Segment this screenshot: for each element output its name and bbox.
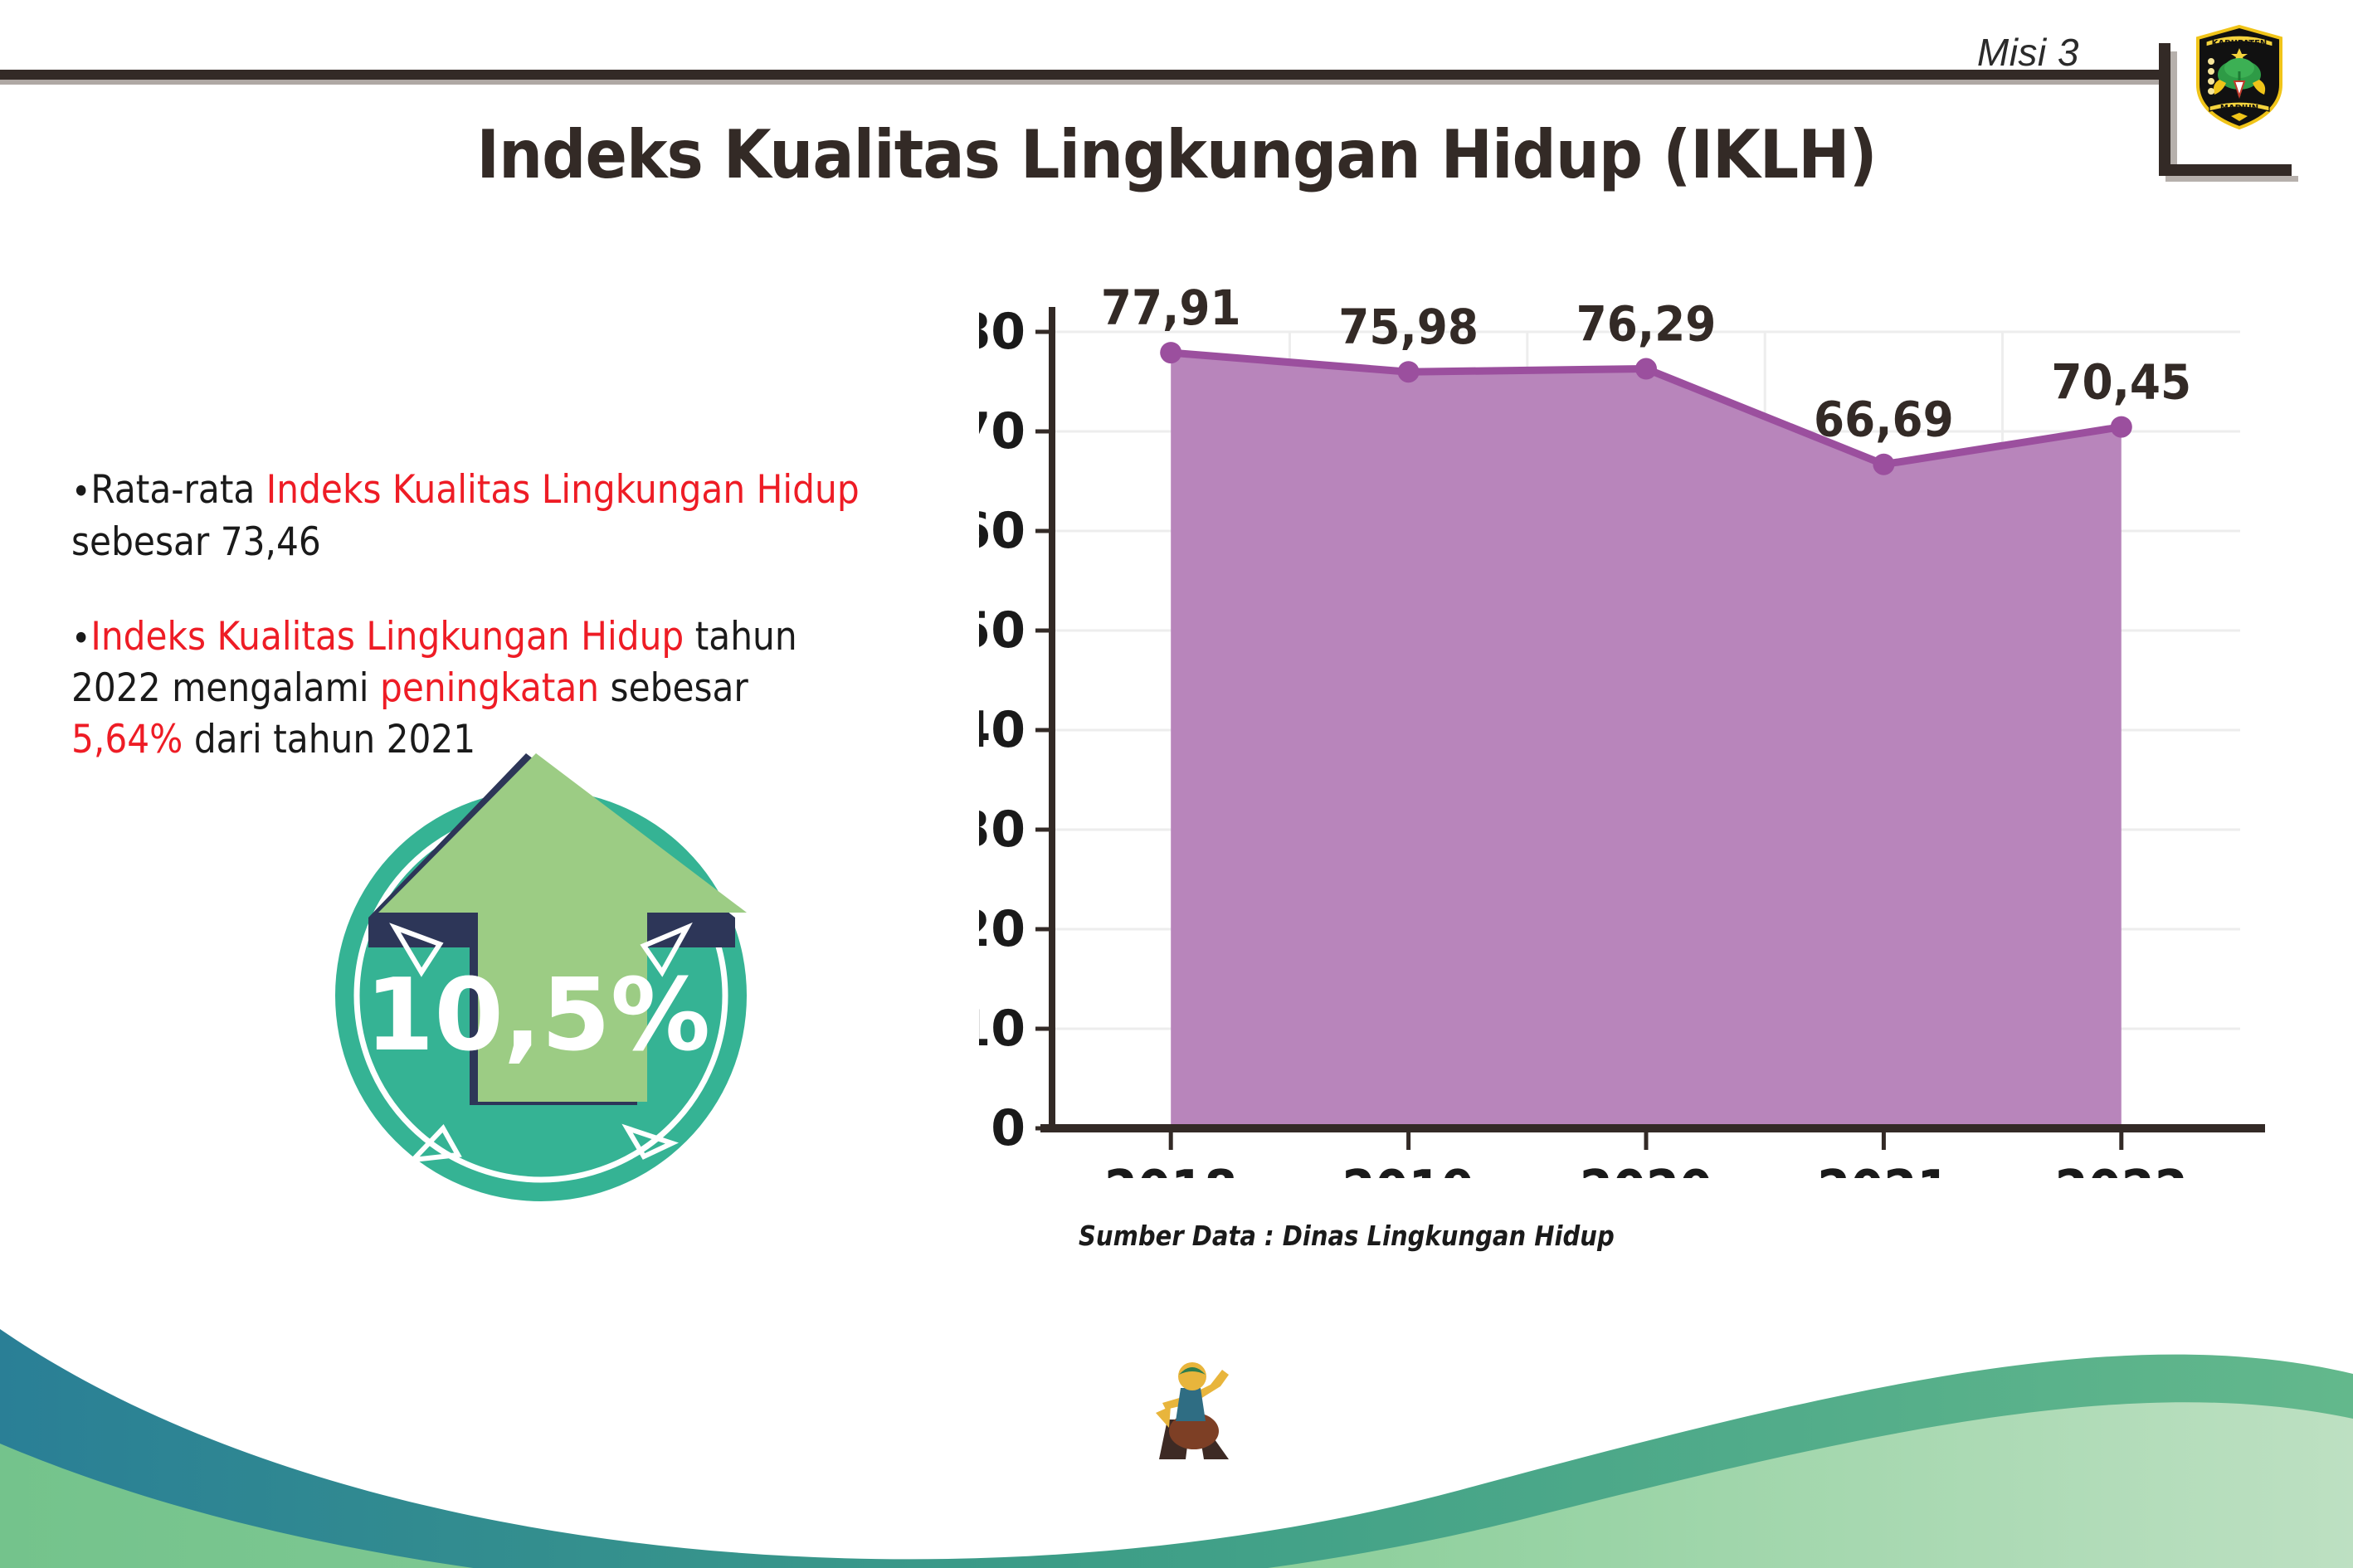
y-axis-tick-label: 20 xyxy=(979,900,1025,958)
data-point-label: 76,29 xyxy=(1576,296,1717,353)
header-rule xyxy=(0,70,2169,80)
y-axis-tick-label: 80 xyxy=(979,303,1025,361)
bullet-text-run: sebesar xyxy=(599,665,748,711)
kabupaten-madiun-emblem-icon: KABUPATEN MADIUN xyxy=(2195,25,2284,129)
bullet-dot: • xyxy=(71,617,90,660)
misi-label: Misi 3 xyxy=(1977,30,2079,75)
bullet-text-run: Indeks Kualitas Lingkungan Hidup xyxy=(266,467,860,513)
data-point-marker[interactable] xyxy=(1635,358,1657,380)
bullet-text-run: 5,64% xyxy=(71,717,183,762)
list-item: •Indeks Kualitas Lingkungan Hidup tahun … xyxy=(71,611,863,767)
bullet-text-run: sebesar 73,46 xyxy=(71,519,321,565)
svg-text:KABUPATEN: KABUPATEN xyxy=(2212,39,2268,48)
list-item: •Rata-rata Indeks Kualitas Lingkungan Hi… xyxy=(71,465,863,568)
data-point-marker[interactable] xyxy=(1160,342,1181,363)
x-axis-tick-label: 2019 xyxy=(1342,1159,1474,1178)
x-axis-tick-label: 2022 xyxy=(2055,1159,2188,1178)
y-axis-tick-label: 0 xyxy=(991,1099,1025,1157)
x-axis-tick-label: 2020 xyxy=(1580,1159,1712,1178)
bullet-dot: • xyxy=(71,470,90,513)
source-note: Sumber Data : Dinas Lingkungan Hidup xyxy=(1079,1220,1615,1252)
y-axis-tick-label: 30 xyxy=(979,801,1025,859)
page-title: Indeks Kualitas Lingkungan Hidup (IKLH) xyxy=(82,116,2270,193)
bullet-text-run: peningkatan xyxy=(380,665,599,711)
data-point-label: 75,98 xyxy=(1338,299,1479,356)
svg-text:MADIUN: MADIUN xyxy=(2220,104,2258,113)
infographic-page: Misi 3 KABUPATEN MADIUN Indeks Kualitas … xyxy=(0,0,2353,1568)
header-rule-shadow xyxy=(0,80,2169,85)
area-fill xyxy=(1171,353,2122,1128)
data-point-label: 77,91 xyxy=(1101,282,1241,337)
increase-badge: 10,5% xyxy=(315,747,763,1211)
y-axis-tick-label: 40 xyxy=(979,701,1025,759)
x-axis-tick-label: 2021 xyxy=(1817,1159,1950,1178)
y-axis-tick-label: 10 xyxy=(979,1000,1025,1058)
data-point-marker[interactable] xyxy=(2111,416,2132,438)
y-axis-tick-label: 70 xyxy=(979,402,1025,460)
badge-value-label: 10,5% xyxy=(365,958,710,1074)
bullet-text-run: Indeks Kualitas Lingkungan Hidup xyxy=(90,614,684,660)
iklh-area-chart: 77,9175,9876,2966,6970,45010203040506070… xyxy=(979,282,2273,1178)
statistics-figure-icon xyxy=(1149,1358,1240,1470)
data-point-marker[interactable] xyxy=(1398,361,1420,382)
y-axis-tick-label: 50 xyxy=(979,601,1025,660)
data-point-marker[interactable] xyxy=(1873,454,1894,475)
bullet-text-run: Rata-rata xyxy=(90,467,266,513)
data-point-label: 70,45 xyxy=(2051,355,2191,411)
y-axis-tick-label: 60 xyxy=(979,502,1025,560)
data-point-label: 66,69 xyxy=(1814,392,1954,449)
x-axis-tick-label: 2018 xyxy=(1104,1159,1237,1178)
